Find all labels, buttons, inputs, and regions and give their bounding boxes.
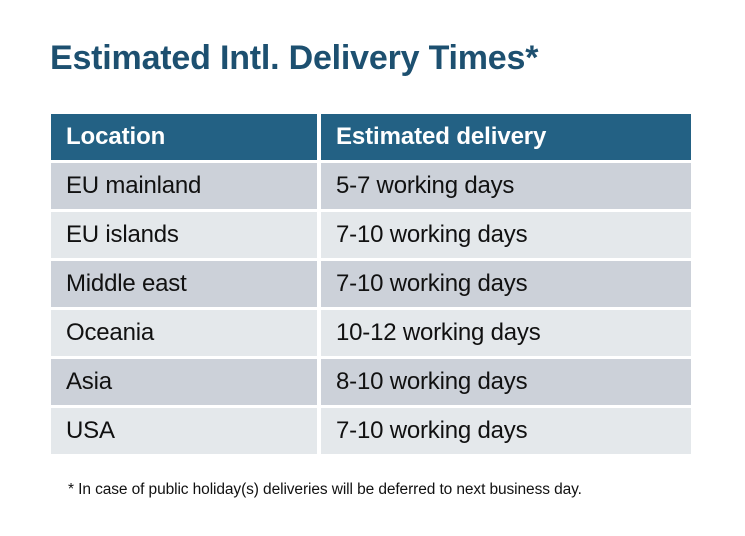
cell-estimated-delivery: 7-10 working days [321, 408, 691, 454]
page-title: Estimated Intl. Delivery Times* [50, 36, 538, 80]
table-row: USA 7-10 working days [51, 408, 691, 454]
cell-estimated-delivery: 5-7 working days [321, 163, 691, 209]
table-row: EU mainland 5-7 working days [51, 163, 691, 209]
column-header-estimated-delivery: Estimated delivery [321, 114, 691, 160]
cell-location: Oceania [51, 310, 317, 356]
table-row: Asia 8-10 working days [51, 359, 691, 405]
cell-location: EU mainland [51, 163, 317, 209]
cell-estimated-delivery: 7-10 working days [321, 261, 691, 307]
estimated-delivery-times-table: Location Estimated delivery EU mainland … [51, 114, 691, 457]
cell-estimated-delivery: 10-12 working days [321, 310, 691, 356]
table-header-row: Location Estimated delivery [51, 114, 691, 160]
table-footnote: * In case of public holiday(s) deliverie… [68, 479, 582, 501]
cell-location: USA [51, 408, 317, 454]
table-row: Oceania 10-12 working days [51, 310, 691, 356]
cell-location: Middle east [51, 261, 317, 307]
table-row: Middle east 7-10 working days [51, 261, 691, 307]
cell-location: EU islands [51, 212, 317, 258]
cell-location: Asia [51, 359, 317, 405]
cell-estimated-delivery: 8-10 working days [321, 359, 691, 405]
cell-estimated-delivery: 7-10 working days [321, 212, 691, 258]
table-row: EU islands 7-10 working days [51, 212, 691, 258]
column-header-location: Location [51, 114, 317, 160]
delivery-times-card: Estimated Intl. Delivery Times* Location… [0, 0, 745, 536]
